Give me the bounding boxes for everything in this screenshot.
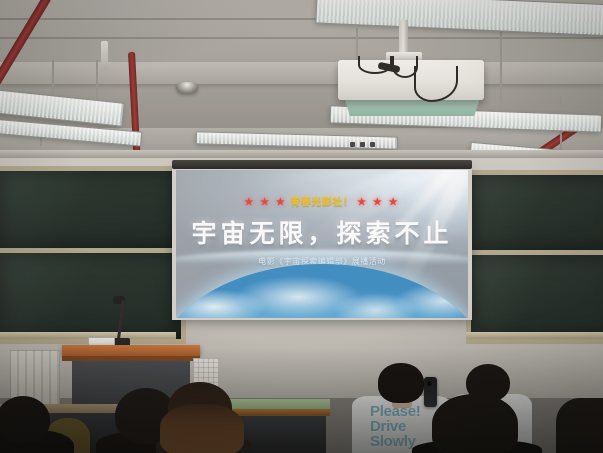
light-hanger [500, 30, 502, 118]
projector-button[interactable] [360, 142, 365, 147]
light-hanger [52, 60, 54, 100]
chalk-tray [466, 332, 603, 339]
person-head [432, 394, 518, 453]
person-head [378, 363, 424, 403]
earth-atmosphere-rim [176, 250, 468, 264]
chalkboard-left-lower [0, 248, 186, 344]
chalkboard-left-upper [0, 166, 186, 254]
screen-roller[interactable] [172, 160, 472, 169]
light-hanger [96, 60, 98, 102]
star-icon: ★ ★ ★ [357, 197, 399, 208]
wall-rail [0, 150, 603, 158]
sprinkler-head [101, 41, 108, 71]
projector-cable [358, 56, 392, 74]
star-icon: ★ ★ ★ [244, 197, 286, 208]
projection-screen: ★ ★ ★ 青春光影社！ ★ ★ ★ 宇宙无限，探索不止 电影《宇宙探索编辑部》… [176, 170, 468, 318]
classroom-photo: ★ ★ ★ 青春光影社！ ★ ★ ★ 宇宙无限，探索不止 电影《宇宙探索编辑部》… [0, 0, 603, 453]
slide-header-text: 青春光影社！ [290, 197, 353, 208]
slide-title: 宇宙无限，探索不止 [176, 214, 468, 250]
slide-header: ★ ★ ★ 青春光影社！ ★ ★ ★ [176, 194, 468, 208]
phone-camera-lens [427, 381, 432, 386]
chalkboard-right-lower [466, 250, 603, 344]
lectern-top [62, 345, 200, 356]
smoke-detector-icon [176, 82, 198, 93]
person-head [0, 396, 50, 444]
projector-button[interactable] [370, 142, 375, 147]
projector-button[interactable] [350, 142, 355, 147]
ceiling-seam [0, 37, 603, 39]
chalkboard-right-upper [466, 170, 603, 256]
ceiling-beam [0, 62, 603, 84]
person-torso [556, 398, 603, 453]
person-hair [160, 404, 244, 453]
